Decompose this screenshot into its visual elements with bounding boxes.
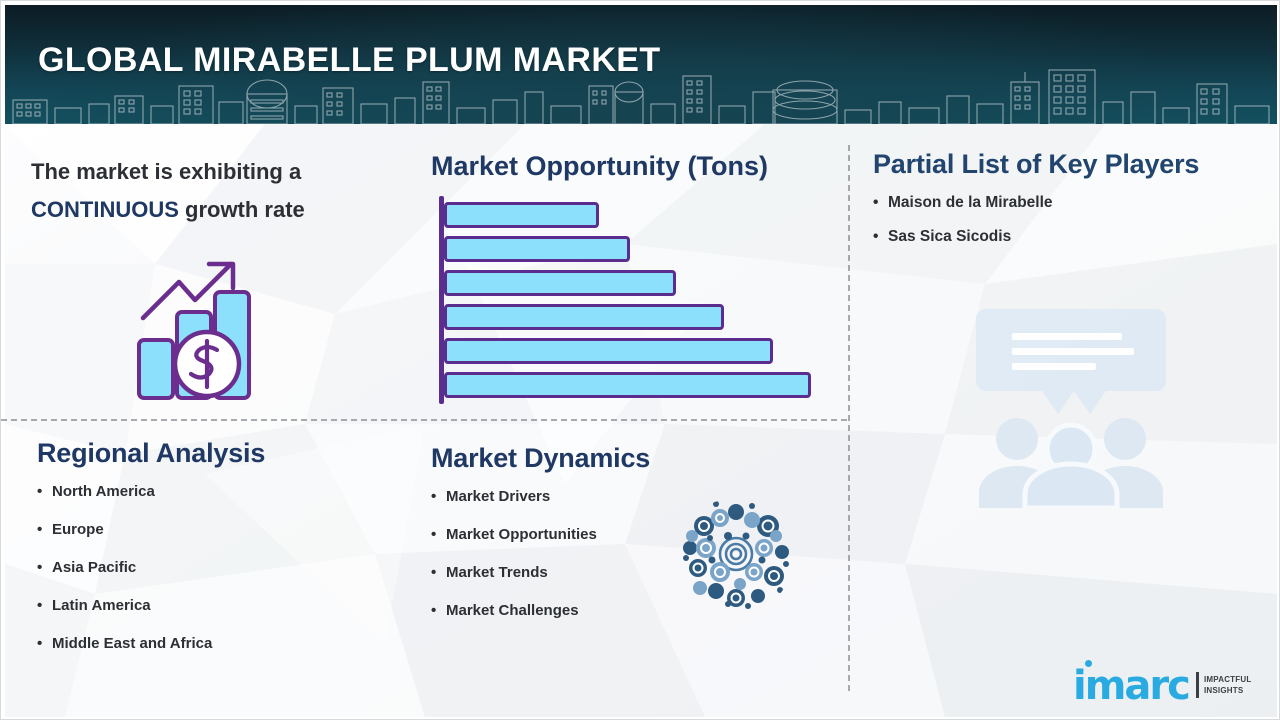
growth-bar-chart-dollar-icon xyxy=(135,256,265,401)
logo-tagline: IMPACTFUL INSIGHTS xyxy=(1204,674,1251,696)
chart-bar xyxy=(444,270,676,296)
header-banner: GLOBAL MIRABELLE PLUM MARKET xyxy=(5,5,1277,124)
chart-plot-area xyxy=(439,196,829,404)
dynamic-label: Market Challenges xyxy=(446,602,579,619)
dynamic-label: Market Drivers xyxy=(446,488,550,505)
statement-highlight: CONTINUOUS xyxy=(31,197,179,222)
chart-bar xyxy=(444,372,811,398)
key-player-label: Sas Sica Sicodis xyxy=(888,228,1011,245)
market-statement: The market is exhibiting a CONTINUOUS gr… xyxy=(31,153,421,229)
statement-line-2-rest: growth rate xyxy=(179,197,305,222)
market-opportunity-title: Market Opportunity (Tons) xyxy=(431,151,768,182)
page-title: GLOBAL MIRABELLE PLUM MARKET xyxy=(38,41,661,80)
market-dynamics-title: Market Dynamics xyxy=(431,443,731,474)
key-players-title: Partial List of Key Players xyxy=(873,149,1253,180)
bullet-dot: • xyxy=(37,559,52,577)
regional-analysis-panel: Regional Analysis •North America •Europe… xyxy=(37,438,417,673)
logo-wordmark: imarc xyxy=(1073,666,1189,706)
key-player-label: Maison de la Mirabelle xyxy=(888,194,1053,211)
statement-line-2: CONTINUOUS growth rate xyxy=(31,191,421,229)
regional-analysis-list: •North America •Europe •Asia Pacific •La… xyxy=(37,483,417,653)
region-label: Middle East and Africa xyxy=(52,635,212,652)
speech-bubble-icon xyxy=(976,309,1166,414)
bullet-dot: • xyxy=(431,564,446,582)
chart-y-axis xyxy=(439,196,444,404)
infographic-slide: GLOBAL MIRABELLE PLUM MARKET xyxy=(0,0,1280,720)
market-opportunity-chart: Market Opportunity (Tons) xyxy=(431,151,831,406)
region-label: Europe xyxy=(52,521,104,538)
statement-line-1: The market is exhibiting a xyxy=(31,153,421,191)
list-item: •Europe xyxy=(37,521,417,539)
bullet-dot: • xyxy=(431,602,446,620)
gears-cluster-icon xyxy=(676,496,796,616)
horizontal-dashed-divider xyxy=(1,419,847,421)
bullet-dot: • xyxy=(37,635,52,653)
region-label: North America xyxy=(52,483,155,500)
bullet-dot: • xyxy=(37,521,52,539)
chart-bar xyxy=(444,202,599,228)
bullet-dot: • xyxy=(431,488,446,506)
logo-divider xyxy=(1196,672,1199,698)
bullet-dot: • xyxy=(431,526,446,544)
chart-bar xyxy=(444,338,773,364)
list-item: •North America xyxy=(37,483,417,501)
bullet-dot: • xyxy=(37,597,52,615)
list-item: •Sas Sica Sicodis xyxy=(873,228,1253,246)
bullet-dot: • xyxy=(873,194,888,212)
regional-analysis-title: Regional Analysis xyxy=(37,438,417,469)
dynamic-label: Market Opportunities xyxy=(446,526,597,543)
key-players-panel: Partial List of Key Players •Maison de l… xyxy=(873,149,1253,262)
group-of-people-icon xyxy=(973,413,1169,508)
dynamic-label: Market Trends xyxy=(446,564,548,581)
chart-bar xyxy=(444,236,630,262)
list-item: •Middle East and Africa xyxy=(37,635,417,653)
key-players-list: •Maison de la Mirabelle •Sas Sica Sicodi… xyxy=(873,194,1253,246)
list-item: •Latin America xyxy=(37,597,417,615)
imarc-logo: imarc IMPACTFUL INSIGHTS xyxy=(1073,656,1213,704)
list-item: •Asia Pacific xyxy=(37,559,417,577)
region-label: Asia Pacific xyxy=(52,559,136,576)
bullet-dot: • xyxy=(37,483,52,501)
list-item: •Maison de la Mirabelle xyxy=(873,194,1253,212)
logo-tagline-line-1: IMPACTFUL xyxy=(1204,674,1251,685)
logo-tagline-line-2: INSIGHTS xyxy=(1204,685,1251,696)
chart-bar xyxy=(444,304,724,330)
region-label: Latin America xyxy=(52,597,151,614)
bullet-dot: • xyxy=(873,228,888,246)
vertical-dashed-divider xyxy=(848,145,850,691)
